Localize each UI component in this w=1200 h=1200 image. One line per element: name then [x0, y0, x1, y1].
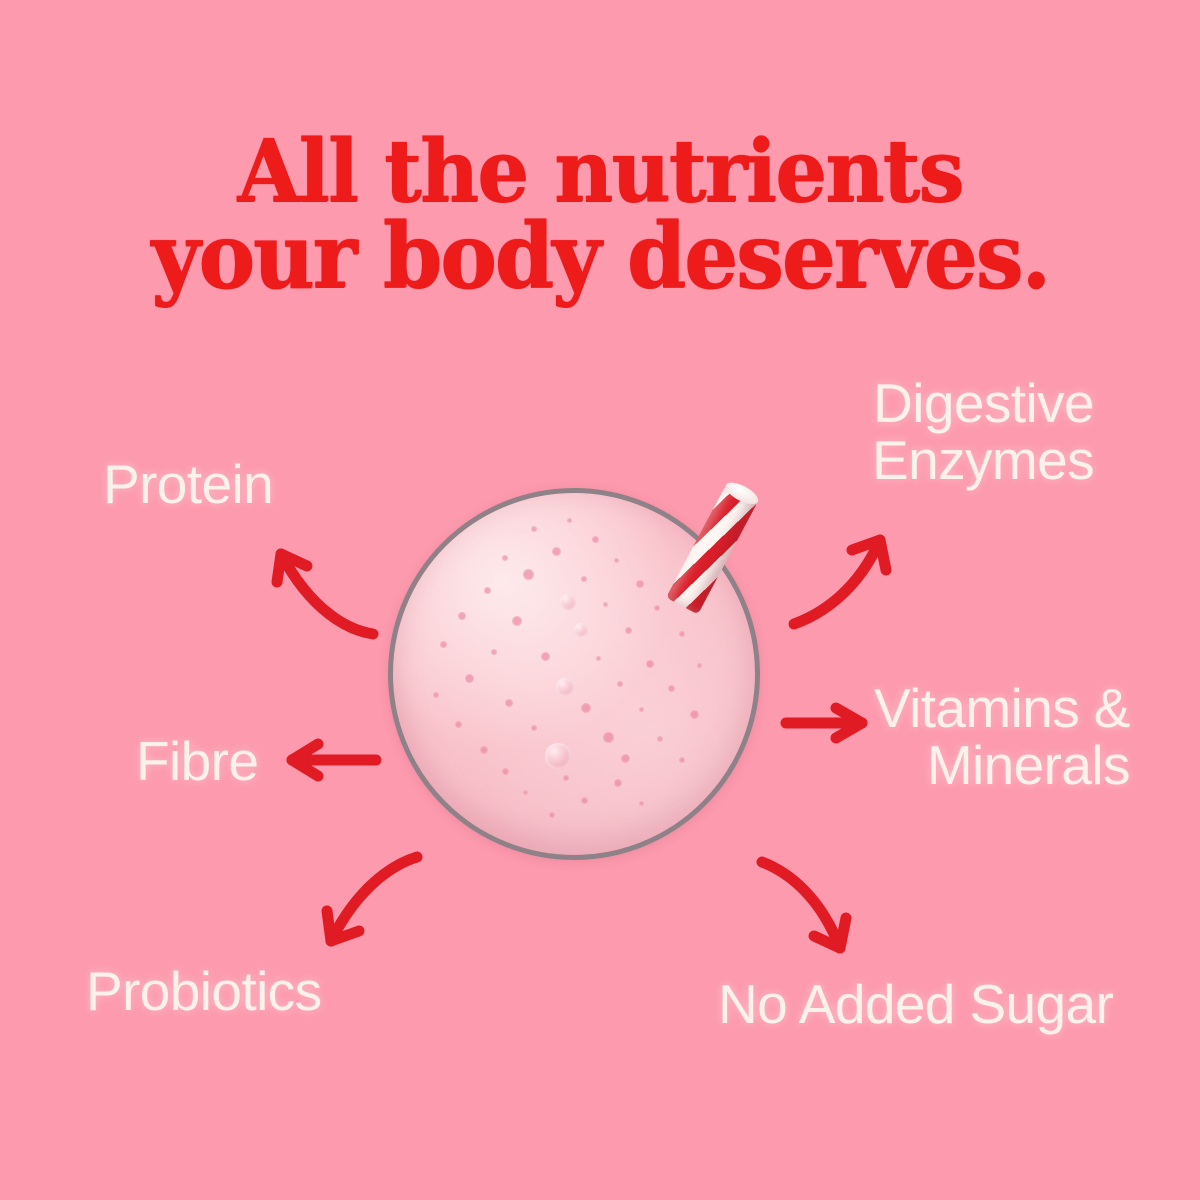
bubble — [545, 743, 571, 769]
bubble — [531, 526, 537, 532]
arrow-curved-down-right-icon — [748, 848, 878, 968]
page-title: All the nutrients your body deserves. — [36, 130, 1164, 301]
bubble — [603, 602, 608, 607]
callout-label-vitamins-minerals: Vitamins & Minerals — [874, 680, 1130, 794]
bubble — [502, 768, 509, 775]
bubble — [484, 587, 491, 594]
callout-label-fibre: Fibre — [136, 733, 258, 790]
callout-text-line2: Enzymes — [872, 432, 1094, 489]
bubble — [625, 627, 632, 634]
bubble — [455, 721, 462, 728]
callout-text: No Added Sugar — [718, 973, 1113, 1035]
bubble — [657, 736, 663, 742]
callout-label-protein: Protein — [103, 456, 273, 513]
arrow-straight-left-icon — [278, 738, 382, 784]
callout-text: Probiotics — [86, 960, 322, 1022]
bubble — [491, 649, 497, 655]
bubble — [556, 678, 574, 696]
bubble — [531, 725, 537, 731]
nutrition-callout-poster: All the nutrients your body deserves. — [0, 0, 1200, 1200]
bubble — [502, 555, 508, 561]
callout-text: Vitamins & — [874, 677, 1130, 739]
bubble — [596, 656, 601, 661]
bubble — [621, 754, 630, 763]
bubble — [690, 710, 699, 719]
bubble — [603, 732, 614, 743]
bubble — [614, 558, 619, 563]
bubble — [433, 692, 439, 698]
callout-label-no-added-sugar: No Added Sugar — [718, 976, 1113, 1033]
callout-text: Digestive — [873, 372, 1094, 434]
bubble — [560, 594, 576, 610]
bubble — [639, 801, 644, 806]
bubble — [549, 812, 555, 818]
bubble — [654, 605, 660, 611]
arrow-curved-up-left-icon — [255, 532, 385, 652]
callout-label-digestive-enzymes: Digestive Enzymes — [872, 375, 1094, 489]
bubble — [646, 660, 654, 668]
arrow-curved-down-left-icon — [305, 843, 435, 963]
headline-line-2: your body deserves. — [36, 213, 1164, 300]
headline-line-1: All the nutrients — [36, 130, 1164, 213]
callout-text-line2: Minerals — [874, 737, 1130, 794]
callout-text: Fibre — [136, 730, 258, 792]
bubble — [668, 685, 675, 692]
bubble — [614, 779, 622, 787]
arrow-straight-right-icon — [778, 700, 874, 746]
bubble — [639, 707, 644, 712]
callout-text: Protein — [103, 453, 273, 515]
bubble — [679, 631, 685, 637]
callout-label-probiotics: Probiotics — [86, 963, 322, 1020]
bubble — [636, 580, 644, 588]
arrow-curved-up-right-icon — [780, 520, 906, 640]
